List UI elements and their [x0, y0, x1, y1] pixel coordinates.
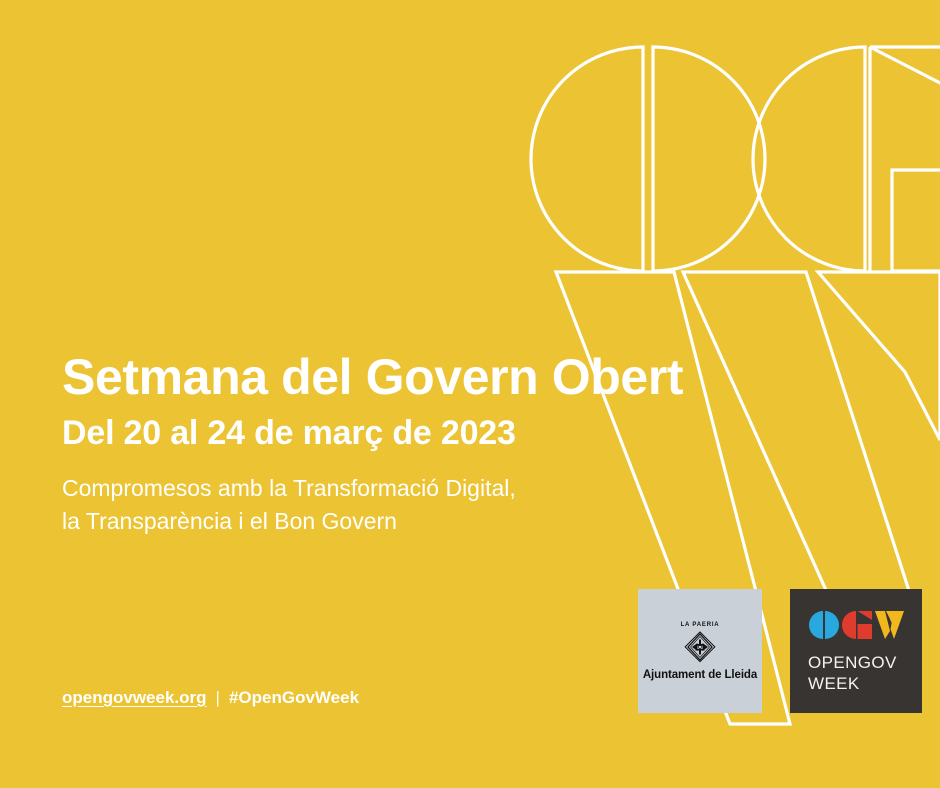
opengov-week-wordmark: OPENGOV WEEK [808, 652, 922, 695]
footer-links: opengovweek.org | #OpenGovWeek [62, 688, 359, 708]
lleida-coat-of-arms-icon [684, 631, 716, 663]
ogw-monogram-icon [808, 608, 904, 642]
hashtag-label: #OpenGovWeek [229, 688, 359, 708]
footer-separator: | [216, 688, 220, 708]
page-tagline: Compromesos amb la Transformació Digital… [62, 472, 822, 539]
opengov-week-logo-box: OPENGOV WEEK [790, 589, 922, 713]
watermark-w-stroke-3-icon [818, 272, 940, 440]
poster-canvas: Setmana del Govern Obert Del 20 al 24 de… [0, 0, 940, 788]
week-line: WEEK [808, 673, 922, 694]
watermark-g-bowl-icon [753, 47, 865, 271]
headline-block: Setmana del Govern Obert Del 20 al 24 de… [62, 352, 822, 539]
page-title: Setmana del Govern Obert [62, 352, 822, 402]
website-link[interactable]: opengovweek.org [62, 688, 207, 708]
la-paeria-label: LA PAERIA [681, 622, 720, 628]
watermark-g-wedge-icon [870, 47, 940, 160]
lleida-name-label: Ajuntament de Lleida [643, 669, 757, 681]
tagline-line-2: la Transparència i el Bon Govern [62, 505, 822, 538]
watermark-g-block-icon [892, 170, 940, 271]
opengov-line: OPENGOV [808, 652, 922, 673]
page-subtitle-dates: Del 20 al 24 de març de 2023 [62, 416, 822, 450]
watermark-o-right-icon [653, 47, 765, 271]
lleida-logo-box: LA PAERIA Ajuntament de Lleida [638, 589, 762, 713]
watermark-o-left-icon [531, 47, 643, 271]
tagline-line-1: Compromesos amb la Transformació Digital… [62, 472, 822, 505]
